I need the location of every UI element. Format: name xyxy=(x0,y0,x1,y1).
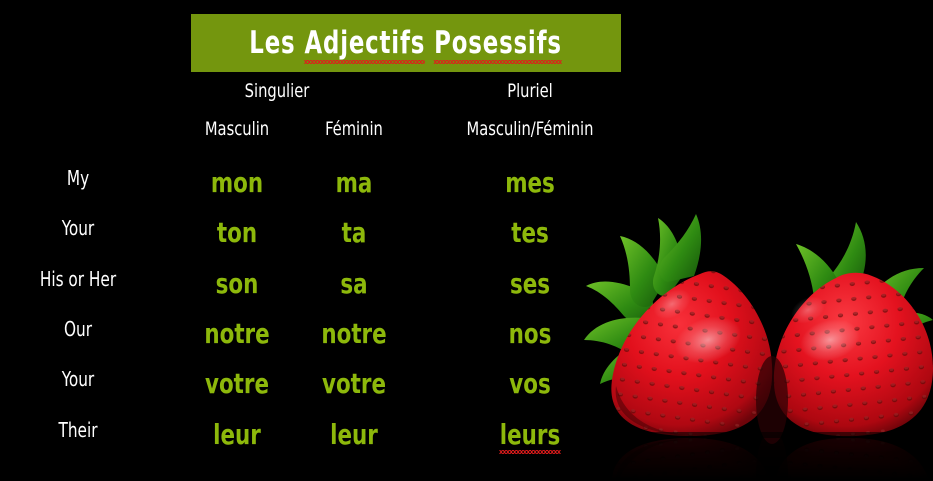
row-5-pluriel: vos xyxy=(411,367,649,400)
title-word: Posessifs xyxy=(435,25,563,61)
title-word: Adjectifs xyxy=(305,25,426,61)
table-row: Yourtontates xyxy=(0,216,620,266)
spellcheck-underlined-word: leurs xyxy=(500,418,560,451)
title-banner: LesAdjectifsPosessifs xyxy=(191,14,621,72)
header-group-1: Singulier xyxy=(157,80,398,102)
table-row: His or Hersonsases xyxy=(0,267,620,317)
header-group-2: Pluriel xyxy=(410,80,651,102)
table-row: Ournotrenotrenos xyxy=(0,317,620,367)
title-word: Les xyxy=(250,25,296,61)
row-2-pluriel: tes xyxy=(411,216,649,249)
table-row: Yourvotrevotrevos xyxy=(0,367,620,417)
header-column-3: Masculin/Féminin xyxy=(410,118,651,140)
row-3-pluriel: ses xyxy=(411,267,649,300)
slide-canvas: LesAdjectifsPosessifs SingulierPluriel M… xyxy=(0,0,933,481)
header-group-row: SingulierPluriel xyxy=(0,80,620,110)
row-1-pluriel: mes xyxy=(411,166,649,199)
table-row: Mymonmames xyxy=(0,166,620,216)
table-row: Theirleurleurleurs xyxy=(0,418,620,468)
row-4-pluriel: nos xyxy=(411,317,649,350)
header-column-row: MasculinFémininMasculin/Féminin xyxy=(0,118,620,148)
row-6-pluriel: leurs xyxy=(411,418,649,451)
page-title: LesAdjectifsPosessifs xyxy=(250,25,562,61)
